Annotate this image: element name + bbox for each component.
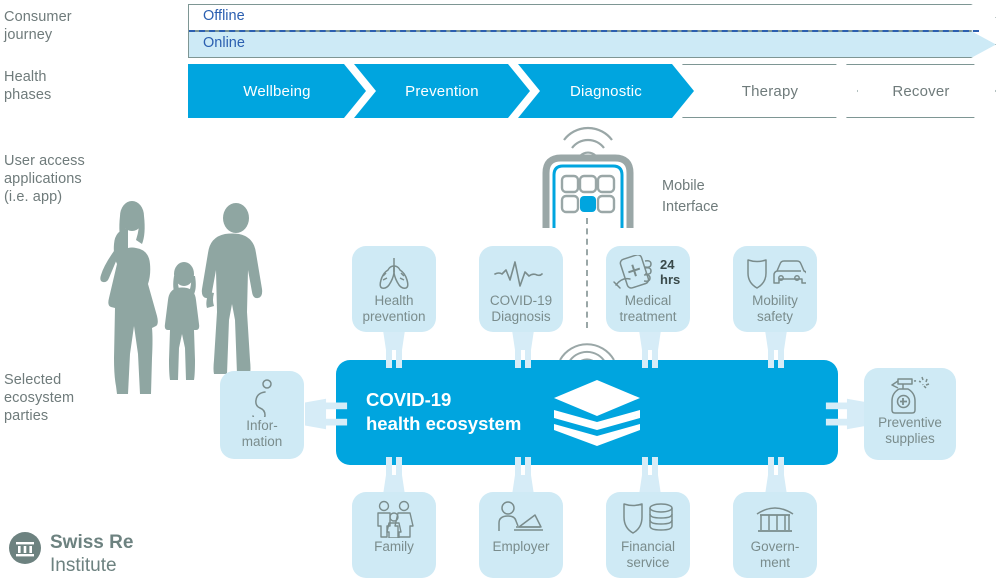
card-preventive-supplies[interactable]: Preventivesupplies	[864, 368, 956, 460]
card-information[interactable]: Infor-mation	[220, 371, 304, 459]
card-covid-diagnosis[interactable]: COVID-19Diagnosis	[479, 246, 563, 332]
plug-family	[373, 455, 415, 495]
card-employer[interactable]: Employer	[479, 492, 563, 578]
phase-wellbeing[interactable]: Wellbeing	[188, 64, 366, 118]
information-icon	[245, 380, 279, 416]
row-label-consumer-journey: Consumer journey	[4, 8, 174, 44]
phase-label: Therapy	[742, 83, 798, 100]
mobile-interface-label: Mobile Interface	[662, 176, 718, 218]
covid-health-ecosystem-bar: COVID-19 health ecosystem	[336, 360, 838, 465]
plug-mobility-safety	[755, 330, 797, 370]
ecosystem-title-line1: COVID-19	[366, 388, 521, 412]
swiss-re-institute-logo: Swiss Re Institute	[8, 531, 208, 581]
phase-label: Recover	[892, 83, 949, 100]
svg-text:24: 24	[660, 257, 675, 272]
ecosystem-title: COVID-19 health ecosystem	[366, 388, 521, 436]
logo-subtitle: Institute	[50, 554, 133, 577]
card-label: Govern-ment	[751, 539, 800, 571]
card-label: Mobilitysafety	[752, 293, 798, 325]
row-label-health-phases: Health phases	[4, 68, 174, 104]
bank-icon	[753, 501, 797, 537]
phase-label: Wellbeing	[243, 83, 310, 100]
card-family[interactable]: Family	[352, 492, 436, 578]
card-label: Medicaltreatment	[619, 293, 676, 325]
plug-government	[755, 455, 797, 495]
family-silhouette	[78, 196, 288, 396]
offline-band	[188, 4, 996, 31]
heartbeat-icon	[494, 255, 548, 291]
plug-preventive-supplies	[824, 392, 868, 436]
plug-health-prevention	[373, 330, 415, 370]
offline-label: Offline	[203, 6, 245, 26]
consumer-journey-banner: Offline Online	[188, 4, 996, 58]
lungs-icon	[374, 255, 414, 291]
layers-stack-icon	[552, 378, 642, 448]
employer-icon	[496, 501, 546, 537]
diagram-canvas: Consumer journey Health phases User acce…	[0, 0, 999, 586]
ecosystem-title-line2: health ecosystem	[366, 412, 521, 436]
mobile-device-icon[interactable]	[520, 118, 660, 228]
online-label: Online	[203, 33, 245, 53]
card-financial-service[interactable]: Financialservice	[606, 492, 690, 578]
plug-employer	[502, 455, 544, 495]
plug-information	[305, 392, 349, 436]
phase-recover[interactable]: Recover	[846, 64, 996, 118]
phase-diagnostic[interactable]: Diagnostic	[518, 64, 694, 118]
swissre-pillar-icon	[8, 531, 42, 565]
phone-connection-line	[586, 218, 588, 328]
plug-covid-diagnosis	[502, 330, 544, 370]
card-government[interactable]: Govern-ment	[733, 492, 817, 578]
phase-prevention[interactable]: Prevention	[354, 64, 530, 118]
logo-name: Swiss Re	[50, 531, 133, 554]
card-medical-treatment[interactable]: 24 hrs Medicaltreatment	[606, 246, 690, 332]
card-label: Preventivesupplies	[878, 415, 942, 447]
phase-label: Diagnostic	[570, 83, 642, 100]
card-label: Healthprevention	[362, 293, 425, 325]
active-app-cell	[580, 196, 596, 212]
card-label: COVID-19Diagnosis	[490, 293, 552, 325]
card-mobility-safety[interactable]: Mobilitysafety	[733, 246, 817, 332]
medical-app-icon: 24 hrs	[606, 255, 690, 291]
card-label: Financialservice	[621, 539, 675, 571]
family-icon	[371, 501, 417, 537]
phase-therapy[interactable]: Therapy	[682, 64, 858, 118]
online-band	[188, 31, 996, 58]
mobile-interface-group: Mobile Interface	[520, 118, 750, 228]
wifi-arc-lower-icon	[556, 330, 618, 364]
plug-financial-service	[629, 455, 671, 495]
offline-online-divider	[189, 30, 979, 32]
card-label: Employer	[492, 539, 549, 555]
shield-car-icon	[744, 255, 806, 291]
card-label: Infor-mation	[242, 418, 283, 450]
plug-medical-treatment	[629, 330, 671, 370]
svg-text:hrs: hrs	[660, 272, 680, 287]
card-label: Family	[374, 539, 414, 555]
phase-label: Prevention	[405, 83, 479, 100]
shield-data-icon	[620, 501, 676, 537]
health-phases-chevrons: Wellbeing Prevention Diagnostic Therapy …	[188, 64, 996, 118]
card-health-prevention[interactable]: Healthprevention	[352, 246, 436, 332]
spray-bottle-icon	[886, 377, 934, 413]
